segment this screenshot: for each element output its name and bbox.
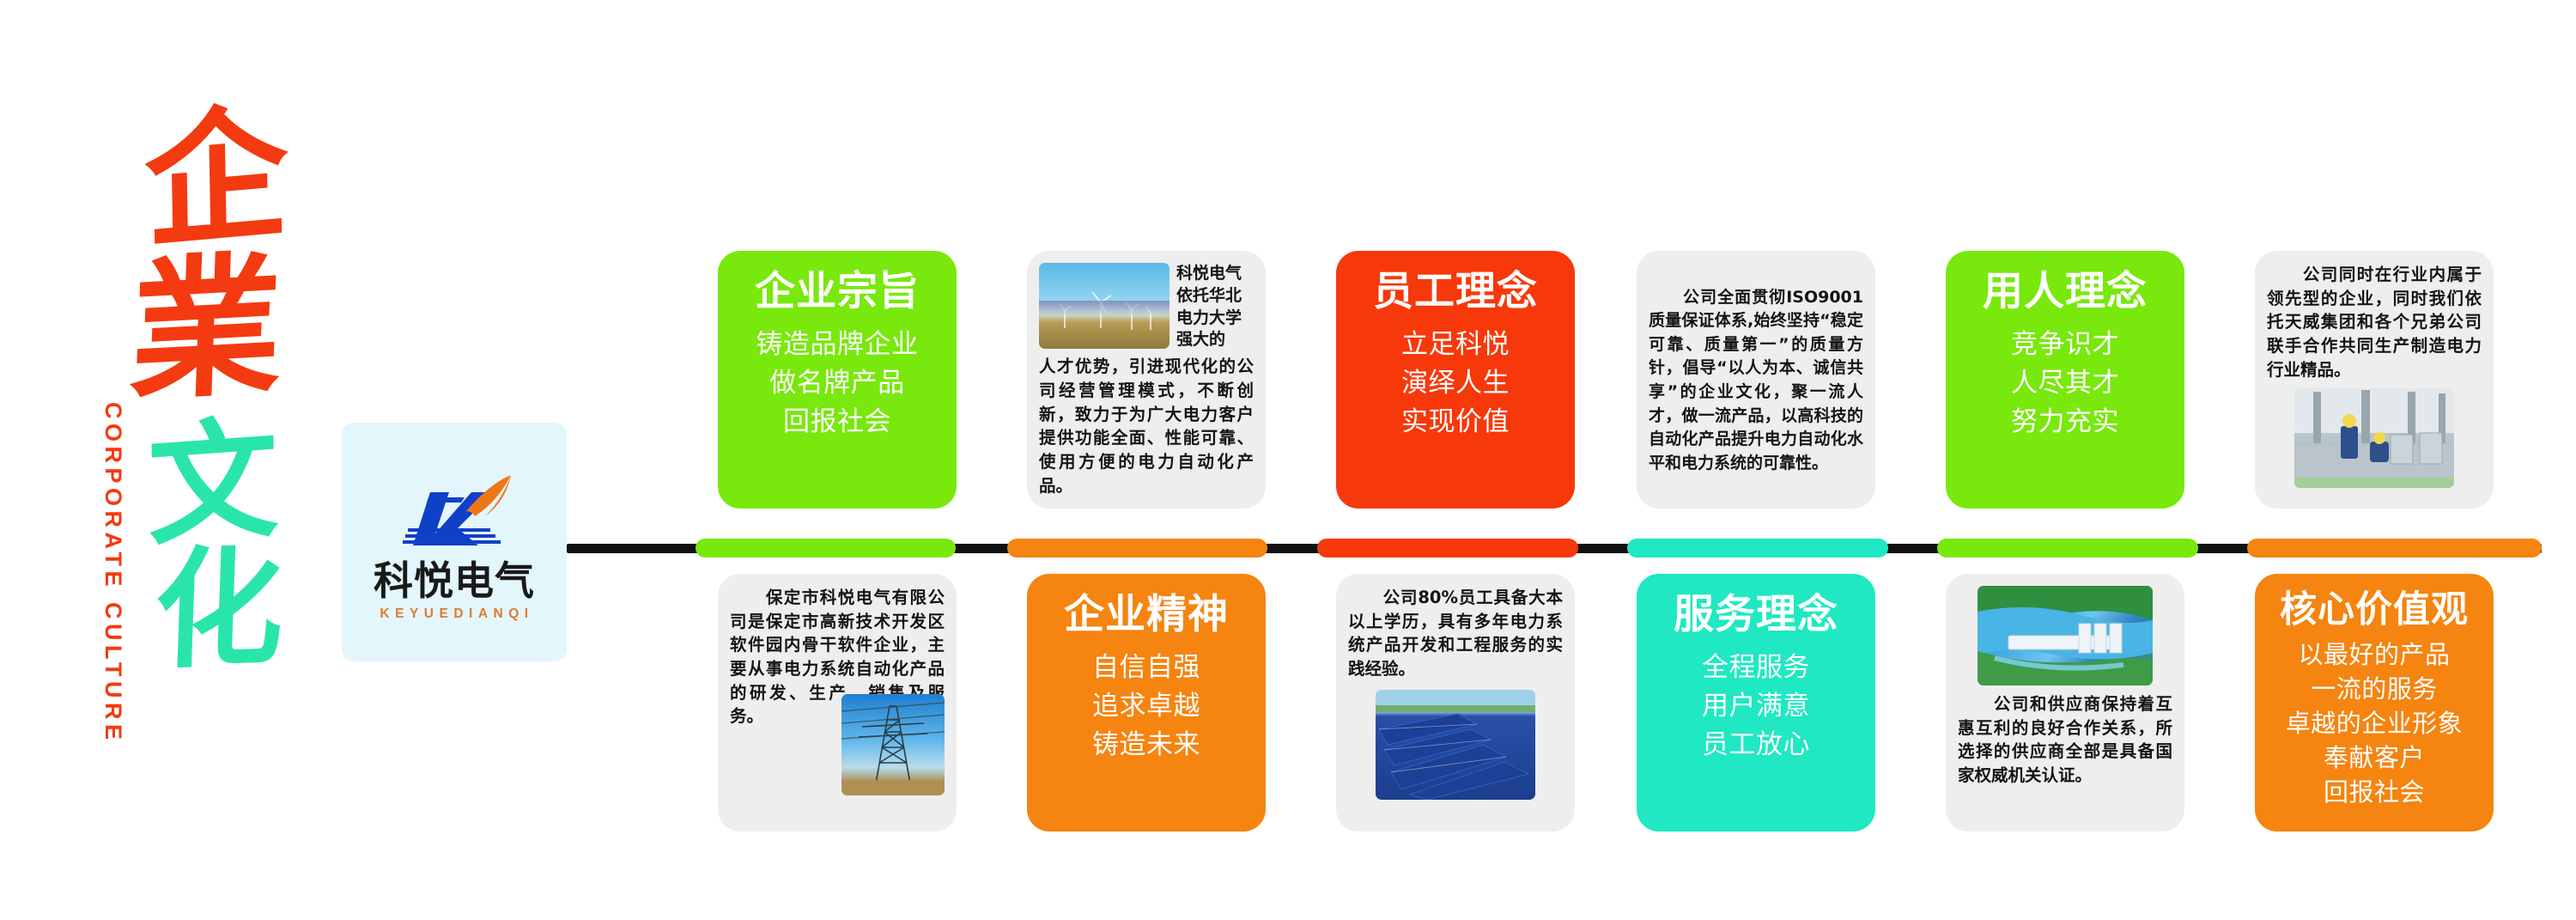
card-line: 以最好的产品 [2286,637,2464,672]
card-talent-advantage[interactable]: 科悦电气依托华北电力大学强大的 人才优势，引进现代化的公司经营管理模式，不断创新… [1027,251,1266,509]
card-hiring-philosophy[interactable]: 用人理念 竞争识才 人尽其才 努力充实 [1946,251,2184,509]
card-line: 人尽其才 [2011,364,2119,403]
card-line: 演绎人生 [1401,364,1510,403]
title-char-ye: 業 [128,255,283,403]
card-line: 卓越的企业形象 [2286,706,2464,740]
card-line: 用户满意 [1702,687,1810,726]
card-core-values[interactable]: 核心价值观 以最好的产品 一流的服务 卓越的企业形象 奉献客户 回报社会 [2255,574,2494,832]
card-line: 一流的服务 [2286,672,2464,706]
card-line: 回报社会 [2286,775,2464,809]
card-line: 实现价值 [1401,403,1510,442]
substation-workers-photo [2294,388,2454,488]
infographic-canvas: 企 業 文 化 CORPORATE CULTURE 科悦电气 [0,0,2576,920]
power-tower-photo [841,694,945,795]
card-line: 做名牌产品 [756,364,919,403]
card-line: 努力充实 [2011,403,2119,442]
page-title: 企 業 文 化 CORPORATE CULTURE [94,103,361,790]
card-line: 全程服务 [1702,649,1810,687]
card-line: 铸造品牌企业 [756,326,919,364]
card-employee-philosophy[interactable]: 员工理念 立足科悦 演绎人生 实现价值 [1336,251,1575,509]
card-title: 用人理念 [1983,270,2148,315]
card-body: 人才优势，引进现代化的公司经营管理模式，不断创新，致力于为广大电力客户提供功能全… [1039,355,1254,497]
card-line: 回报社会 [756,403,919,442]
timeline-segment-orange-1 [1007,539,1268,557]
card-title: 员工理念 [1373,270,1538,315]
card-service-philosophy[interactable]: 服务理念 全程服务 用户满意 员工放心 [1637,574,1875,832]
card-supplier-relations[interactable]: 公司和供应商保持着互惠互利的良好合作关系，所选择的供应商全部是具备国家权威机关认… [1946,574,2184,832]
timeline-segment-orange-2 [2247,539,2542,557]
card-line: 奉献客户 [2286,740,2464,775]
timeline-segment-green-1 [696,539,957,557]
timeline-connector [567,539,2542,557]
card-wrap-text: 科悦电气依托华北电力大学强大的 [1176,263,1254,351]
solar-farm-photo [1376,690,1535,800]
card-lines: 竞争识才 人尽其才 努力充实 [2011,326,2119,442]
card-title: 企业宗旨 [755,270,920,315]
card-line: 追求卓越 [1092,687,1200,726]
card-lines: 立足科悦 演绎人生 实现价值 [1401,326,1510,442]
card-title: 核心价值观 [2280,589,2469,631]
logo-name-cn: 科悦电气 [374,561,535,600]
hydro-dam-photo [1978,586,2153,685]
card-lines: 以最好的产品 一流的服务 卓越的企业形象 奉献客户 回报社会 [2286,637,2464,809]
card-body: 公司和供应商保持着互惠互利的良好合作关系，所选择的供应商全部是具备国家权威机关认… [1958,692,2172,788]
title-char-wen: 文 [147,418,279,548]
card-line: 竞争识才 [2011,326,2119,364]
title-char-qi: 企 [143,106,289,252]
timeline-segment-green-2 [1937,539,2198,557]
card-body: 公司同时在行业内属于领先型的企业，同时我们依托天威集团和各个兄弟公司联手合作共同… [2267,263,2482,381]
card-enterprise-purpose[interactable]: 企业宗旨 铸造品牌企业 做名牌产品 回报社会 [718,251,957,509]
card-staff-education[interactable]: 公司80%员工具备大本以上学历，具有多年电力系统产品开发和工程服务的实践经验。 [1336,574,1575,832]
wind-farm-photo [1039,263,1170,349]
card-iso9001-quality[interactable]: 公司全面贯彻ISO9001质量保证体系,始终坚持“稳定可靠、质量第一”的质量方针… [1637,251,1875,509]
title-char-hua: 化 [153,547,286,670]
logo-name-en: KEYUEDIANQI [380,606,533,622]
card-line: 铸造未来 [1092,726,1200,765]
card-body: 公司全面贯彻ISO9001质量保证体系,始终坚持“稳定可靠、质量第一”的质量方针… [1649,286,1863,475]
keyue-k-logo-icon [382,463,526,557]
card-lines: 全程服务 用户满意 员工放心 [1702,649,1810,765]
card-industry-leading[interactable]: 公司同时在行业内属于领先型的企业，同时我们依托天威集团和各个兄弟公司联手合作共同… [2255,251,2494,509]
card-lines: 铸造品牌企业 做名牌产品 回报社会 [756,326,919,442]
card-title: 服务理念 [1674,593,1838,638]
card-line: 员工放心 [1702,726,1810,765]
card-title: 企业精神 [1064,593,1229,638]
timeline-segment-red-1 [1317,539,1578,557]
timeline-segment-teal-1 [1627,539,1888,557]
card-company-intro[interactable]: 保定市科悦电气有限公司是保定市高新技术开发区软件园内骨干软件企业，主要从事电力系… [718,574,957,832]
subtitle-corporate-culture: CORPORATE CULTURE [100,402,126,745]
company-logo-card: 科悦电气 KEYUEDIANQI [342,423,567,661]
card-lines: 自信自强 追求卓越 铸造未来 [1092,649,1200,765]
card-line: 自信自强 [1092,649,1200,687]
card-line: 立足科悦 [1401,326,1510,364]
card-enterprise-spirit[interactable]: 企业精神 自信自强 追求卓越 铸造未来 [1027,574,1266,832]
card-body: 公司80%员工具备大本以上学历，具有多年电力系统产品开发和工程服务的实践经验。 [1348,586,1563,681]
